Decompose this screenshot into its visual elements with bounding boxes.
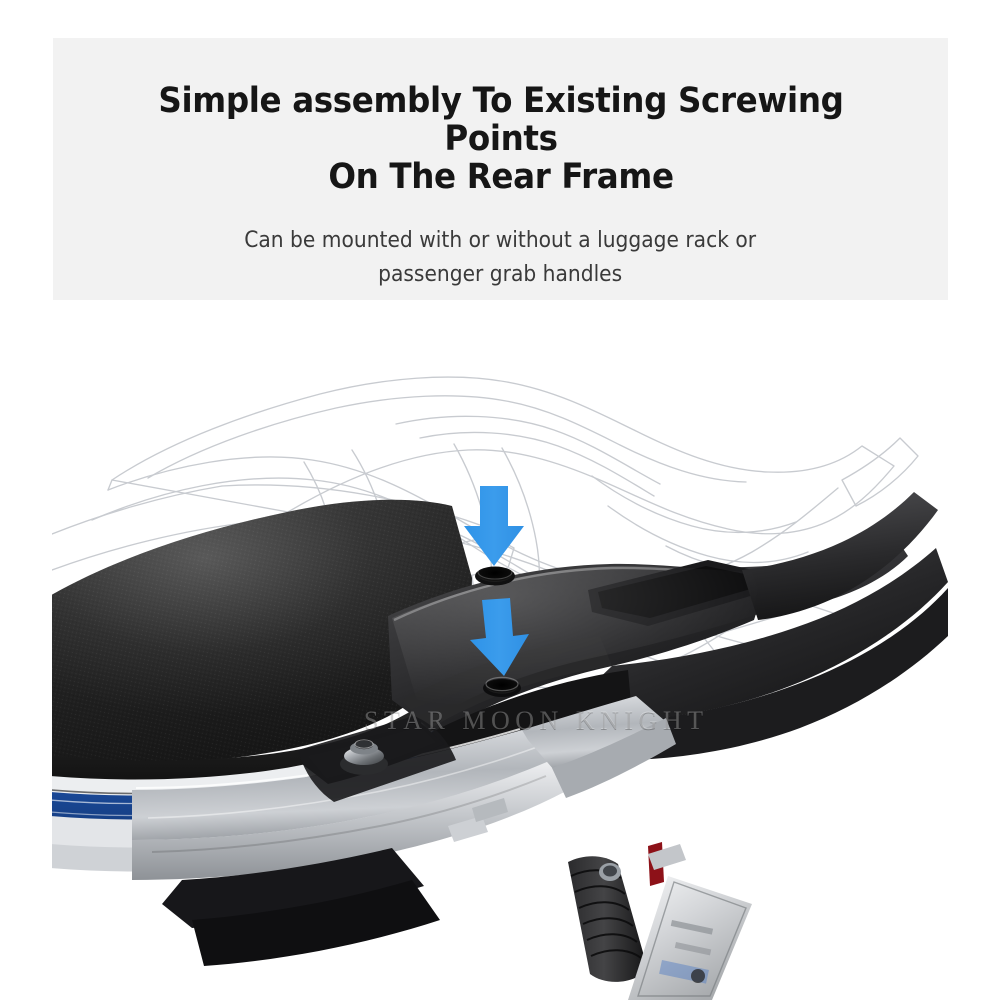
product-photo: STAR MOON KNIGHT: [0, 320, 1000, 1000]
product-photo-inner: STAR MOON KNIGHT: [52, 320, 950, 1000]
page-title-line-1: Simple assembly To Existing Screwing Poi…: [158, 81, 843, 159]
motorcycle-rear-illustration: [52, 320, 950, 1000]
product-infographic: Simple assembly To Existing Screwing Poi…: [0, 0, 1000, 1000]
page-title-line-2: On The Rear Frame: [328, 157, 673, 197]
arrow-upper-icon: [464, 486, 524, 566]
rear-screwing-point: [483, 677, 521, 697]
page-subtitle-line-1: Can be mounted with or without a luggage…: [245, 228, 757, 253]
page-title: Simple assembly To Existing Screwing Poi…: [115, 82, 887, 196]
header-panel: Simple assembly To Existing Screwing Poi…: [53, 38, 948, 300]
license-plate: [628, 876, 752, 1000]
page-subtitle: Can be mounted with or without a luggage…: [245, 224, 757, 292]
front-screwing-point: [475, 565, 515, 586]
page-subtitle-line-2: passenger grab handles: [378, 262, 622, 287]
